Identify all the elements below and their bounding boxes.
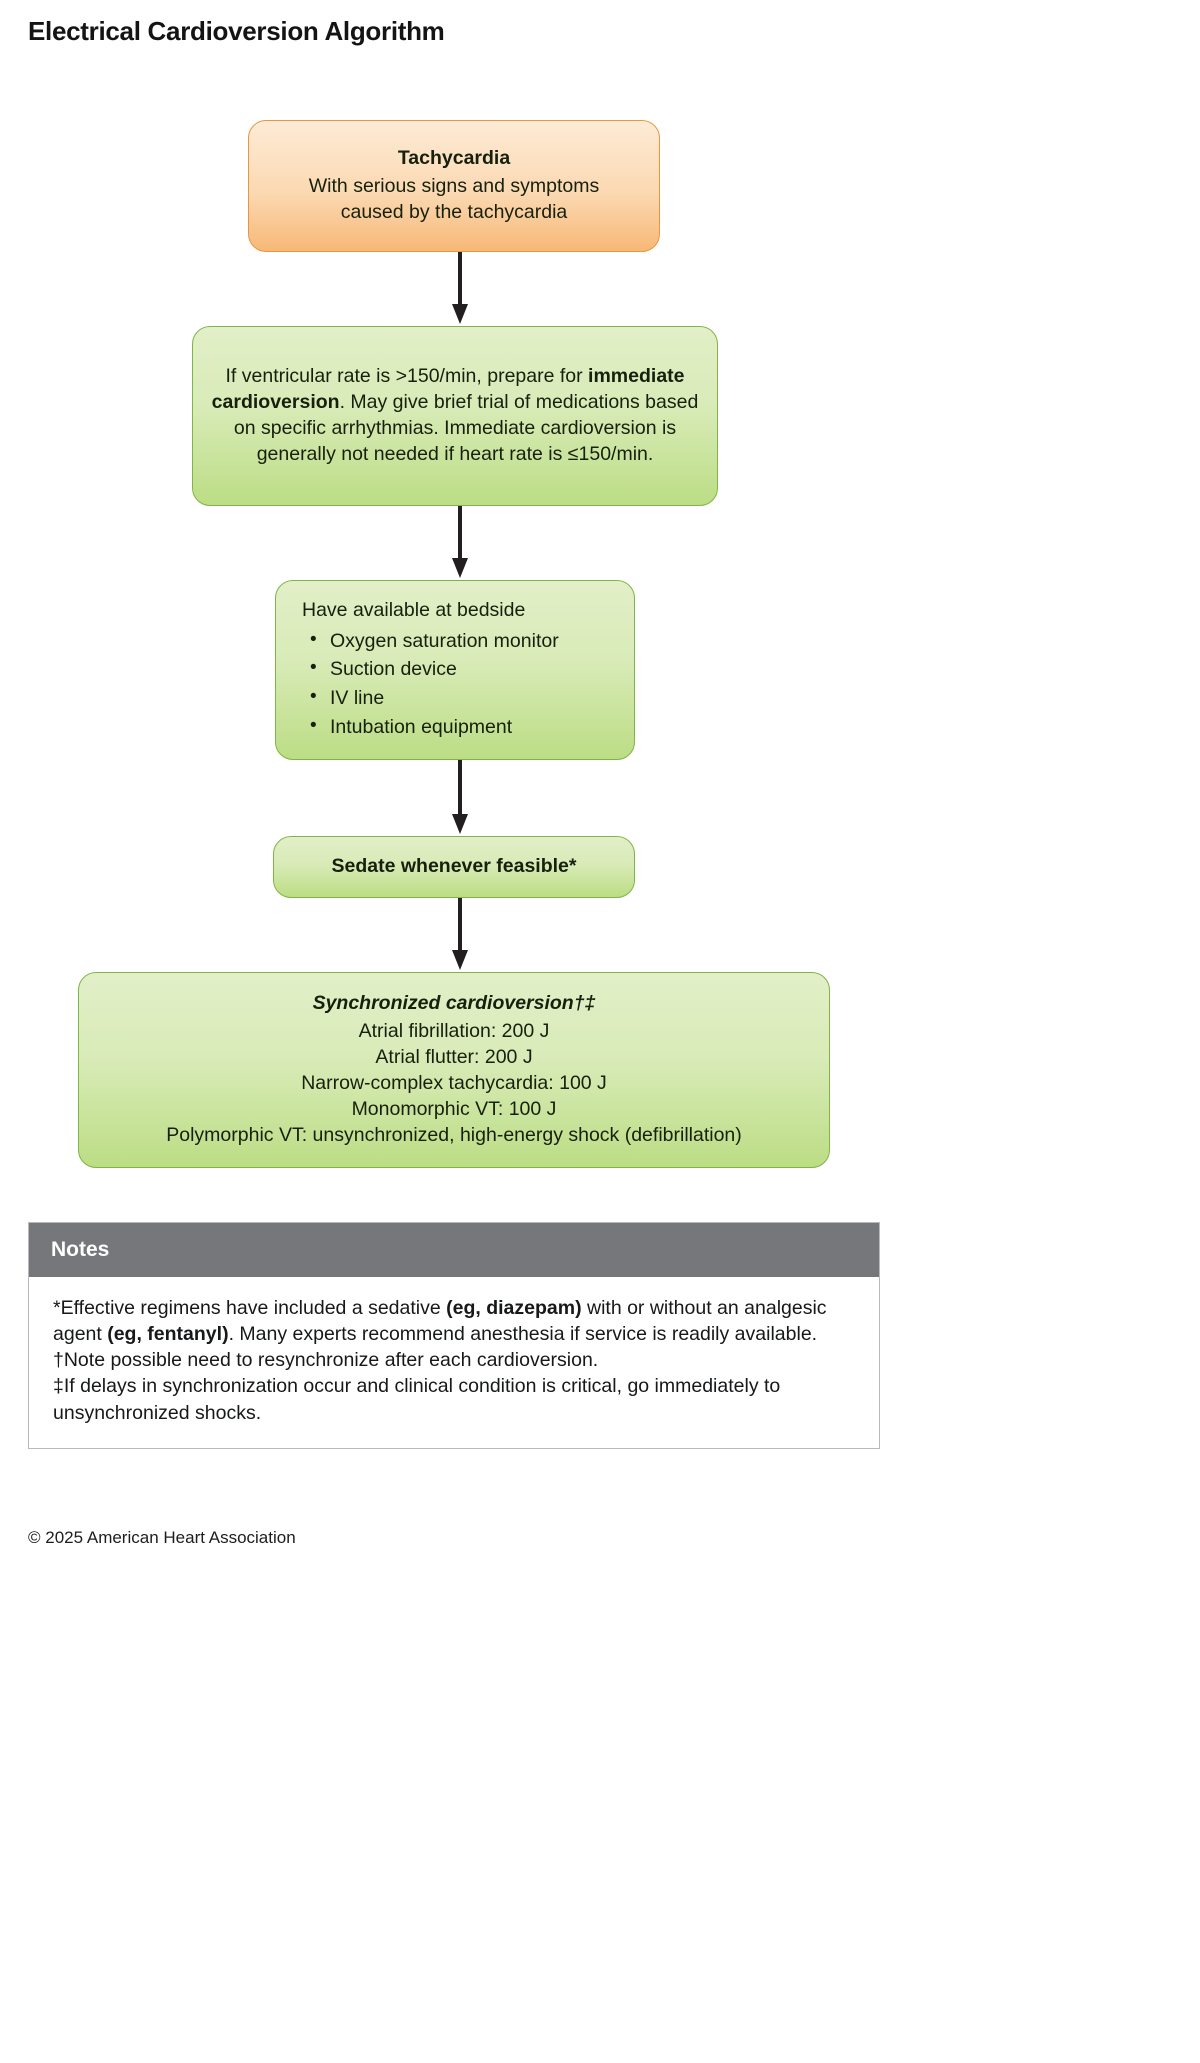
arrow-sedate-to-sync [452, 898, 468, 972]
note-asterisk-seg1: *Effective regimens have included a seda… [53, 1297, 446, 1319]
note-asterisk-seg3: . Many experts recommend anesthesia if s… [229, 1323, 818, 1345]
list-item: Suction device [302, 656, 620, 684]
node-sync-line-5: Polymorphic VT: unsynchronized, high-ene… [93, 1123, 815, 1149]
arrow-bedside-to-sedate [452, 760, 468, 836]
node-tachycardia: Tachycardia With serious signs and sympt… [248, 120, 660, 252]
note-dagger: †Note possible need to resynchronize aft… [53, 1347, 855, 1373]
list-item: IV line [302, 685, 620, 713]
page-title: Electrical Cardioversion Algorithm [28, 16, 445, 47]
node-sedate-label: Sedate whenever feasible* [288, 854, 620, 880]
node-sync-heading: Synchronized cardioversion†‡ [93, 991, 815, 1017]
copyright-footer: © 2025 American Heart Association [28, 1528, 296, 1548]
node-synchronized-cardioversion: Synchronized cardioversion†‡ Atrial fibr… [78, 972, 830, 1168]
node-rate-guidance: If ventricular rate is >150/min, prepare… [192, 326, 718, 506]
node-sync-line-3: Narrow-complex tachycardia: 100 J [93, 1071, 815, 1097]
node-sync-line-4: Monomorphic VT: 100 J [93, 1097, 815, 1123]
note-asterisk: *Effective regimens have included a seda… [53, 1295, 855, 1347]
notes-header: Notes [29, 1223, 879, 1277]
list-item: Oxygen saturation monitor [302, 628, 620, 656]
node-sync-line-1: Atrial fibrillation: 200 J [93, 1019, 815, 1045]
diagram-page: Electrical Cardioversion Algorithm Tachy… [0, 0, 1200, 2063]
node-bedside-equipment: Have available at bedside Oxygen saturat… [275, 580, 635, 760]
note-double-dagger: ‡If delays in synchronization occur and … [53, 1373, 855, 1425]
note-asterisk-bold2: (eg, fentanyl) [107, 1323, 228, 1345]
node-rate-text: If ventricular rate is >150/min, prepare… [207, 364, 703, 468]
arrow-tachycardia-to-rate [452, 252, 468, 326]
notes-panel: Notes *Effective regimens have included … [28, 1222, 880, 1449]
node-bedside-heading: Have available at bedside [302, 598, 620, 624]
node-rate-seg1: If ventricular rate is >150/min, prepare… [226, 365, 589, 387]
list-item: Intubation equipment [302, 714, 620, 742]
bedside-item-list: Oxygen saturation monitor Suction device… [302, 628, 620, 743]
node-tachycardia-heading: Tachycardia [263, 146, 645, 172]
node-sync-line-2: Atrial flutter: 200 J [93, 1045, 815, 1071]
notes-body: *Effective regimens have included a seda… [29, 1277, 879, 1448]
node-tachycardia-line2: caused by the tachycardia [263, 200, 645, 226]
arrow-rate-to-bedside [452, 506, 468, 580]
note-asterisk-bold1: (eg, diazepam) [446, 1297, 581, 1319]
node-tachycardia-line1: With serious signs and symptoms [263, 174, 645, 200]
node-sedate: Sedate whenever feasible* [273, 836, 635, 898]
